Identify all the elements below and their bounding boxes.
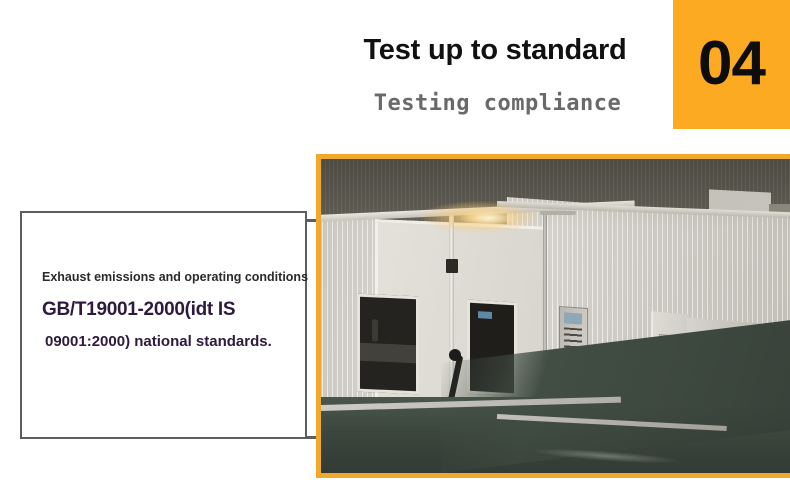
photo-control-panel-display xyxy=(564,312,582,324)
slide-root: 04 Test up to standard Testing complianc… xyxy=(0,0,790,504)
page-subtitle: Testing compliance xyxy=(330,90,665,118)
photo-frame xyxy=(316,154,790,478)
photo-door-window-left xyxy=(357,294,419,395)
photo-door-window-left-floor xyxy=(360,343,416,364)
section-number-label: 04 xyxy=(673,32,790,94)
photo-person-silhouette xyxy=(372,319,378,341)
callout-line-two: GB/T19001-2000(idt IS xyxy=(42,298,295,322)
photo-indicator-led xyxy=(478,311,492,319)
text-callout-box: Exhaust emissions and operating conditio… xyxy=(20,211,307,439)
callout-content: Exhaust emissions and operating conditio… xyxy=(36,269,295,352)
photo-ceiling-glow-core xyxy=(461,209,517,227)
photo-door-hinge-top xyxy=(446,259,458,273)
photo-conduit xyxy=(543,215,547,365)
chamber-photo xyxy=(321,159,790,473)
section-number-badge: 04 xyxy=(673,0,790,129)
callout-line-three: 09001:2000) national standards. xyxy=(45,332,295,352)
callout-line-one: Exhaust emissions and operating conditio… xyxy=(42,269,295,286)
page-title: Test up to standard xyxy=(330,33,660,67)
